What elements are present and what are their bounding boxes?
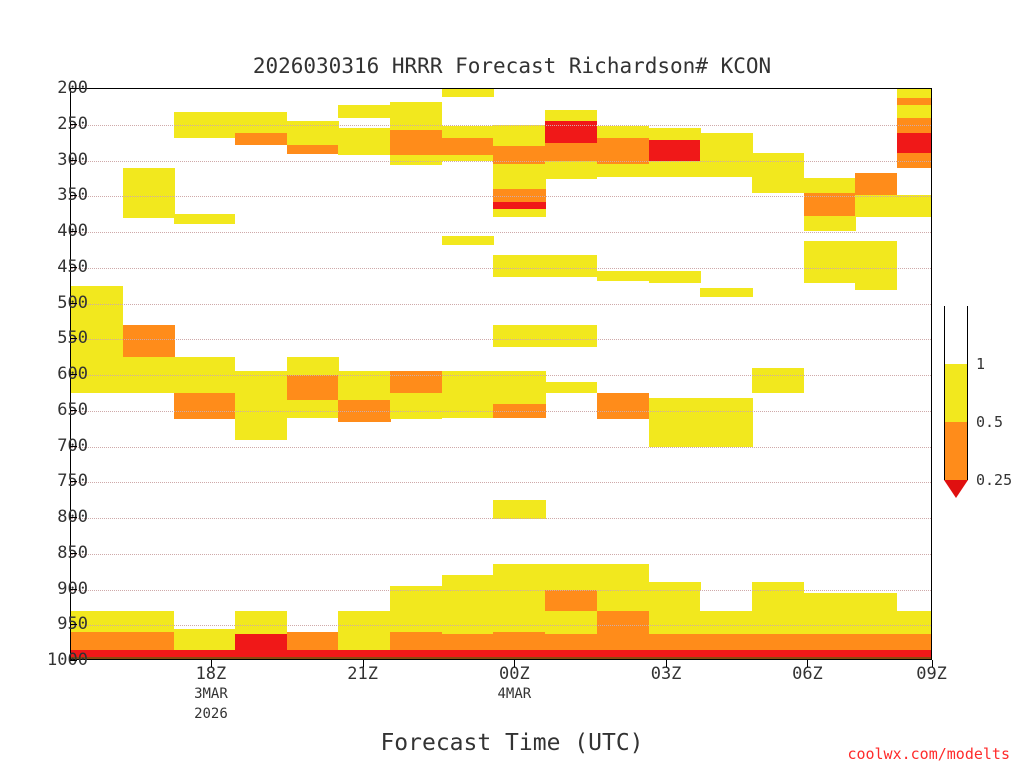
heatmap-cell: [804, 178, 856, 193]
x-axis-tick-mark: [666, 660, 667, 667]
heatmap-cell: [752, 611, 804, 634]
heatmap-cell: [855, 241, 897, 290]
x-axis-tick-mark: [363, 660, 364, 667]
y-axis-tick-mark: [70, 624, 77, 625]
gridline: [71, 196, 931, 197]
heatmap-cell: [493, 590, 545, 612]
heatmap-cell: [597, 564, 649, 590]
heatmap-cell: [123, 168, 175, 219]
heatmap-cell: [597, 126, 649, 138]
gridline: [71, 518, 931, 519]
heatmap-cell: [855, 195, 897, 217]
heatmap-cell: [493, 325, 545, 347]
heatmap-cell: [235, 112, 287, 134]
heatmap-cell: [390, 130, 442, 155]
heatmap-cell: [597, 611, 649, 634]
chart-page: 2026030316 HRRR Forecast Richardson# KCO…: [0, 0, 1024, 768]
y-axis-tick-mark: [70, 410, 77, 411]
heatmap-cell: [804, 241, 856, 283]
gridline: [71, 625, 931, 626]
heatmap-plot-area: [70, 88, 932, 660]
gridline: [71, 161, 931, 162]
y-axis-tick-mark: [70, 195, 77, 196]
credit-watermark: coolwx.com/modelts: [847, 745, 1010, 763]
colorbar-segment: [944, 364, 968, 422]
heatmap-cell: [545, 325, 597, 347]
gridline: [71, 232, 931, 233]
heatmap-cell: [897, 133, 932, 154]
y-axis-tick-mark: [70, 446, 77, 447]
gridline: [71, 304, 931, 305]
x-axis-date-label: 2026: [194, 706, 228, 722]
heatmap-cell: [123, 611, 175, 633]
heatmap-cell: [897, 634, 932, 651]
heatmap-cell: [752, 153, 804, 179]
heatmap-cell: [700, 590, 752, 612]
x-axis-tick-label: 06Z: [792, 664, 823, 684]
x-axis-tick-label: 00Z: [499, 664, 530, 684]
heatmap-cell: [493, 125, 545, 147]
x-axis-tick-label: 03Z: [651, 664, 682, 684]
heatmap-cell: [338, 632, 390, 650]
heatmap-cell: [493, 255, 545, 277]
heatmap-cell: [752, 368, 804, 394]
heatmap-cell: [649, 398, 701, 447]
x-axis-tick-mark: [514, 660, 515, 667]
heatmap-cell: [493, 564, 545, 590]
x-axis-tick-mark: [807, 660, 808, 667]
heatmap-cell: [390, 632, 442, 650]
y-axis-tick-mark: [70, 481, 77, 482]
heatmap-cell: [174, 393, 235, 419]
heatmap-cell: [545, 590, 597, 612]
heatmap-cell: [442, 611, 494, 634]
heatmap-cell: [235, 371, 287, 440]
heatmap-cell: [235, 634, 287, 660]
heatmap-cell: [545, 611, 597, 634]
x-axis-tick-label: 21Z: [347, 664, 378, 684]
heatmap-cell: [493, 146, 545, 164]
heatmap-cell: [700, 634, 752, 651]
heatmap-cell: [545, 634, 597, 651]
heatmap-cell: [493, 611, 545, 633]
colorbar-segment: [944, 422, 968, 480]
y-axis-tick-mark: [70, 231, 77, 232]
y-axis-tick-mark: [70, 267, 77, 268]
heatmap-cell: [649, 161, 701, 177]
heatmap-cell: [700, 288, 752, 297]
heatmap-cell: [390, 393, 442, 419]
heatmap-cell: [752, 582, 804, 611]
gridline: [71, 590, 931, 591]
heatmap-cell: [442, 590, 494, 612]
heatmap-cell: [700, 398, 752, 447]
colorbar-tick-label: 1: [976, 355, 985, 373]
heatmap-cell: [897, 105, 932, 118]
gridline: [71, 375, 931, 376]
heatmap-cell: [700, 611, 752, 634]
heatmap-cell: [597, 634, 649, 651]
heatmap-cell: [123, 632, 175, 650]
heatmap-cell: [545, 255, 597, 277]
heatmap-cell: [287, 145, 339, 154]
y-axis-tick-mark: [70, 303, 77, 304]
gridline: [71, 447, 931, 448]
heatmap-cell: [442, 236, 494, 246]
heatmap-cell: [390, 611, 442, 633]
heatmap-cell: [545, 110, 597, 121]
heatmap-cell: [649, 128, 701, 141]
heatmap-cell: [235, 133, 287, 145]
heatmap-cell: [493, 209, 545, 217]
heatmap-cell: [123, 325, 175, 358]
heatmap-cell: [390, 102, 442, 131]
ground-band: [71, 657, 932, 660]
heatmap-cell: [287, 375, 339, 401]
y-axis-tick-mark: [70, 338, 77, 339]
heatmap-cell: [545, 143, 597, 161]
colorbar-segment: [944, 306, 968, 364]
heatmap-cell: [442, 575, 494, 590]
heatmap-cell: [855, 173, 897, 195]
x-axis-date-label: 3MAR: [194, 686, 228, 702]
heatmap-cell: [649, 271, 701, 282]
heatmap-cell: [442, 126, 494, 138]
chart-title: 2026030316 HRRR Forecast Richardson# KCO…: [0, 54, 1024, 78]
x-axis-tick-label: 18Z: [196, 664, 227, 684]
heatmap-cell: [804, 611, 856, 634]
x-axis-tick-label: 09Z: [916, 664, 947, 684]
gridline: [71, 554, 931, 555]
heatmap-cell: [700, 133, 752, 154]
heatmap-cell: [174, 611, 235, 629]
heatmap-cell: [71, 632, 123, 650]
heatmap-cell: [752, 634, 804, 651]
heatmap-cell: [700, 153, 752, 176]
heatmap-cell: [287, 400, 339, 418]
heatmap-cell: [597, 590, 649, 612]
heatmap-cell: [493, 164, 545, 190]
heatmap-cell: [338, 611, 390, 633]
heatmap-cell: [597, 164, 649, 177]
y-axis-tick-mark: [70, 660, 77, 661]
gridline: [71, 482, 931, 483]
heatmap-cell: [287, 632, 339, 650]
y-axis-tick-mark: [70, 553, 77, 554]
heatmap-cell: [545, 161, 597, 179]
heatmap-cell: [235, 611, 287, 634]
heatmap-cell: [855, 593, 897, 611]
heatmap-cell: [174, 629, 235, 651]
y-axis-tick-mark: [70, 374, 77, 375]
heatmap-cell: [855, 634, 897, 651]
colorbar-tick-label: 0.5: [976, 413, 1003, 431]
heatmap-cell: [804, 216, 856, 231]
gridline: [71, 268, 931, 269]
colorbar-bottom-arrow: [944, 480, 968, 498]
heatmap-cell: [649, 611, 701, 634]
y-axis-tick-mark: [70, 160, 77, 161]
x-axis-tick-mark: [211, 660, 212, 667]
x-axis-tick-mark: [932, 660, 933, 667]
heatmap-cell: [855, 611, 897, 634]
heatmap-cell: [897, 118, 932, 134]
y-axis-tick-mark: [70, 88, 77, 89]
heatmap-cell: [649, 140, 701, 161]
heatmap-cell: [442, 634, 494, 651]
y-axis-tick-mark: [70, 589, 77, 590]
heatmap-cell: [442, 138, 494, 156]
heatmap-cell: [493, 371, 545, 404]
y-axis-tick-mark: [70, 517, 77, 518]
heatmap-cell: [493, 500, 545, 518]
heatmap-cell: [649, 634, 701, 651]
gridline: [71, 339, 931, 340]
heatmap-cell: [804, 634, 856, 651]
y-axis-tick-mark: [70, 124, 77, 125]
heatmap-cell: [442, 88, 494, 97]
colorbar-top-arrow: [944, 288, 968, 306]
heatmap-cell: [287, 357, 339, 375]
heatmap-cell: [597, 271, 649, 281]
heatmap-cell: [597, 393, 649, 419]
heatmap-cell: [338, 128, 390, 155]
gridline: [71, 125, 931, 126]
x-axis-date-label: 4MAR: [498, 686, 532, 702]
gridline: [71, 411, 931, 412]
heatmap-cell: [897, 611, 932, 634]
heatmap-cell: [804, 593, 856, 611]
heatmap-cell: [338, 105, 390, 118]
heatmap-cell: [545, 564, 597, 590]
colorbar-tick-label: 0.25: [976, 471, 1012, 489]
heatmap-cell: [493, 632, 545, 650]
heatmap-cell: [897, 195, 932, 217]
heatmap-cell: [649, 582, 701, 611]
heatmap-cell: [752, 178, 804, 193]
heatmap-cell: [545, 382, 597, 393]
heatmap-cell: [174, 214, 235, 224]
